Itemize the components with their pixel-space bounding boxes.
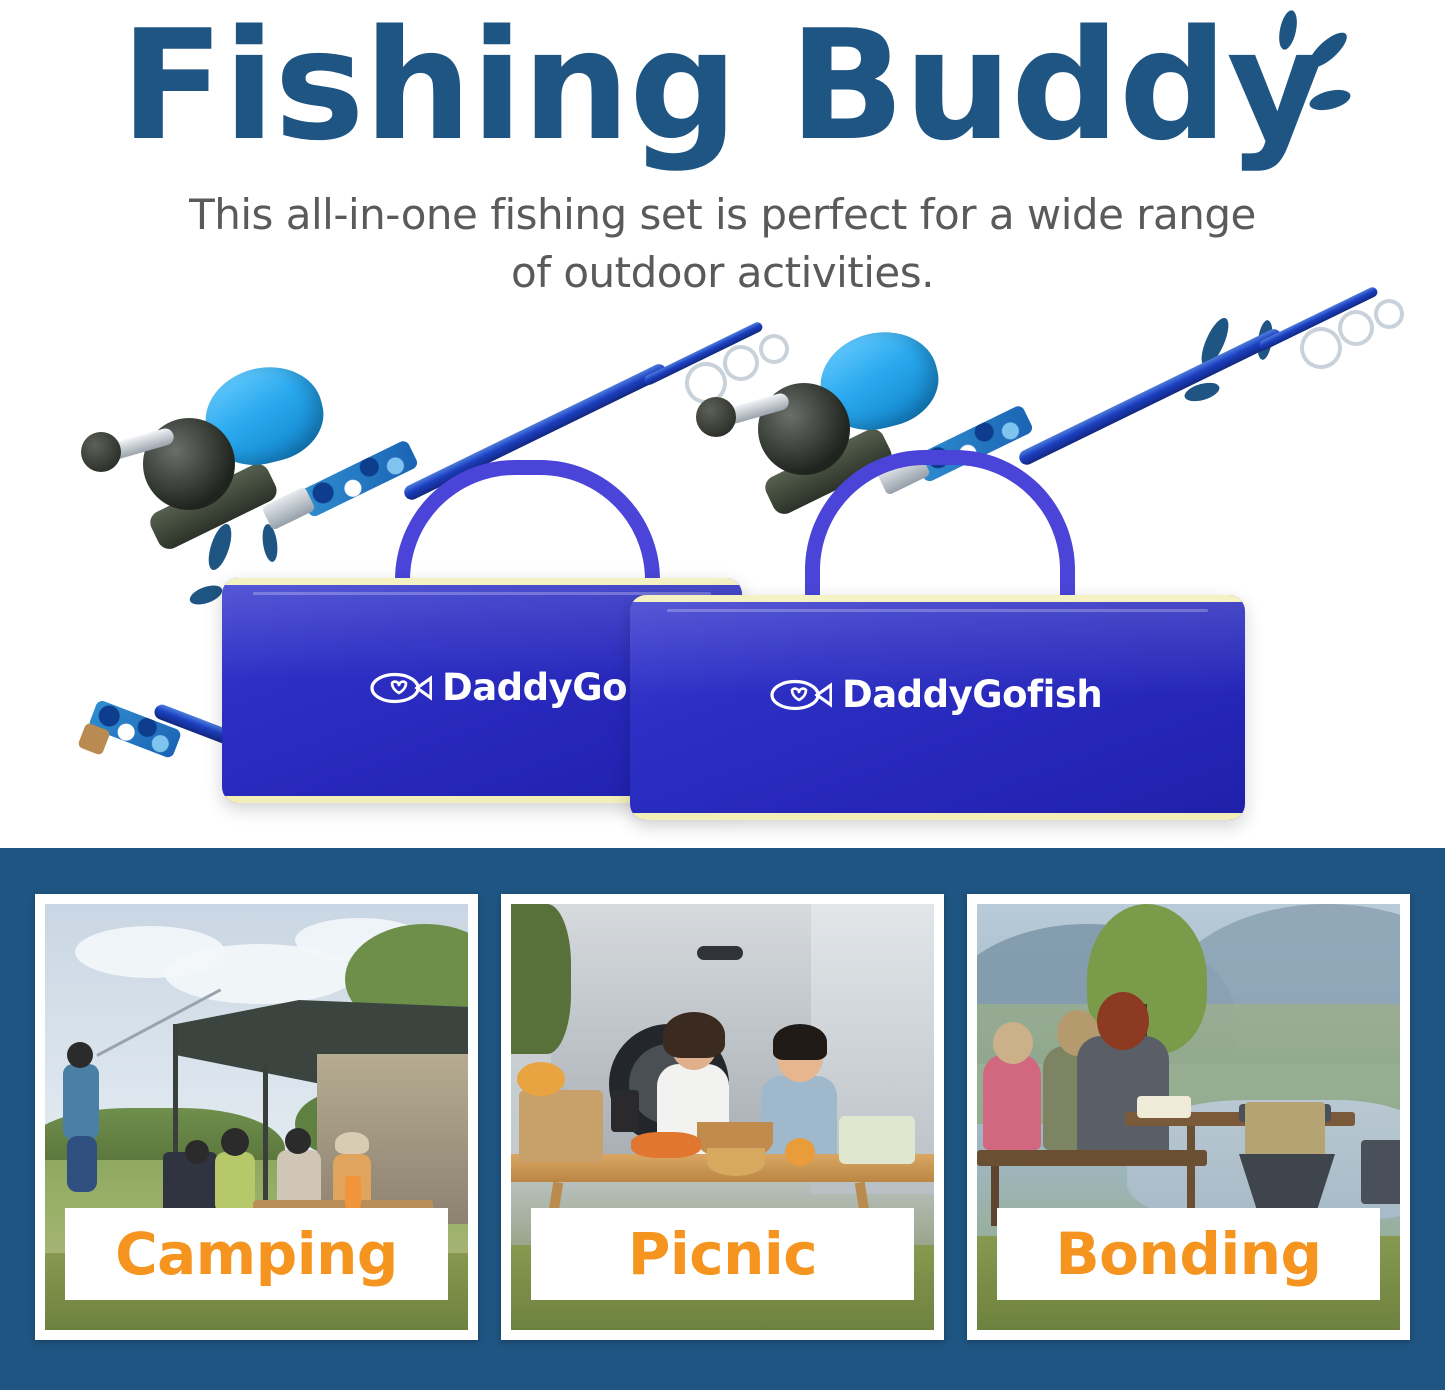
card-label-bonding: Bonding (997, 1208, 1380, 1300)
product-image: DaddyGo DaddyGofish (0, 300, 1445, 848)
brand-logo-left: DaddyGo (370, 666, 627, 709)
bag-piping (630, 813, 1245, 820)
use-case-card-bonding[interactable]: Bonding (967, 894, 1410, 1340)
rod-guide-icon (1369, 294, 1409, 334)
use-case-card-picnic[interactable]: Picnic (501, 894, 944, 1340)
use-cases-panel: Camping (0, 848, 1445, 1390)
fish-heart-logo-icon (770, 678, 832, 712)
page-subtitle: This all-in-one fishing set is perfect f… (170, 186, 1275, 302)
use-case-card-list: Camping (35, 894, 1410, 1340)
card-label-picnic: Picnic (531, 1208, 914, 1300)
card-label-text: Camping (115, 1220, 398, 1288)
rod-camo-grip (298, 439, 419, 519)
hero-section: Fishing Buddy This all-in-one fishing se… (0, 0, 1445, 848)
use-case-card-camping[interactable]: Camping (35, 894, 478, 1340)
brand-logo-right: DaddyGofish (770, 673, 1102, 716)
card-label-camping: Camping (65, 1208, 448, 1300)
page-title: Fishing Buddy (0, 10, 1445, 162)
fish-heart-logo-icon (370, 671, 432, 705)
reel-knob (81, 432, 121, 472)
brand-logo-text: DaddyGofish (842, 673, 1102, 716)
reel-knob (696, 397, 736, 437)
product-marketing-page: Fishing Buddy This all-in-one fishing se… (0, 0, 1445, 1390)
card-label-text: Picnic (628, 1220, 817, 1288)
brand-logo-text: DaddyGo (442, 666, 627, 709)
bag-zipper (667, 609, 1208, 612)
card-label-text: Bonding (1055, 1220, 1321, 1288)
water-splash-icon (1258, 8, 1368, 128)
product-bag-right: DaddyGofish (630, 595, 1245, 820)
rod-blank (1017, 327, 1284, 468)
